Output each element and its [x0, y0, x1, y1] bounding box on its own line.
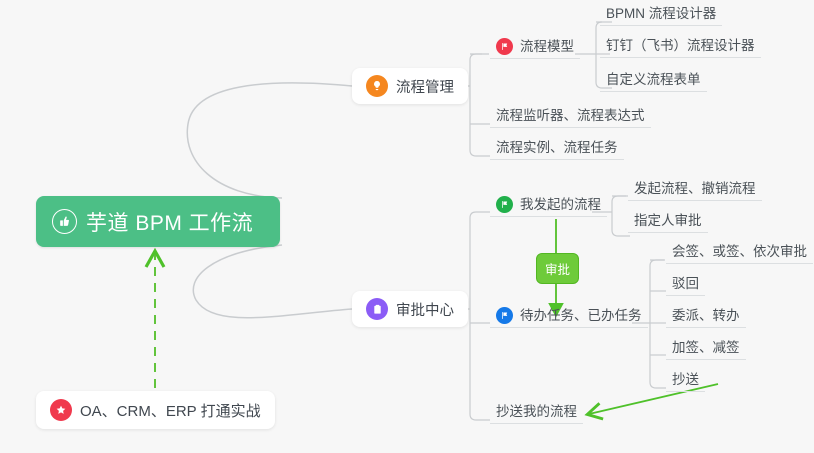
flag-icon: [496, 38, 513, 55]
leaf-label: 流程实例、流程任务: [496, 140, 618, 156]
leaf-process-instance-task[interactable]: 流程实例、流程任务: [490, 140, 624, 160]
flag-icon: [496, 196, 513, 213]
wire-root-to-approval-center: [193, 245, 352, 318]
leaf-assigned-approver[interactable]: 指定人审批: [628, 213, 708, 233]
leaf-label: 加签、减签: [672, 340, 740, 356]
leaf-label: 抄送我的流程: [496, 404, 577, 420]
leaf-label: 自定义流程表单: [606, 72, 701, 88]
wire-todo-spine: [650, 260, 666, 388]
callout-approval[interactable]: 审批: [536, 253, 579, 284]
leaf-dingtalk-feishu-designer[interactable]: 钉钉（飞书）流程设计器: [600, 38, 761, 58]
branch-node-approval-center[interactable]: 审批中心: [352, 291, 468, 327]
leaf-todo-done-tasks[interactable]: 待办任务、已办任务: [490, 307, 648, 328]
star-icon: [50, 399, 72, 421]
callout-label: 审批: [545, 263, 570, 277]
floating-label-integration: OA、CRM、ERP 打通实战: [80, 400, 261, 421]
leaf-label: 指定人审批: [634, 213, 702, 229]
flag-icon: [496, 307, 513, 324]
leaf-custom-process-form[interactable]: 自定义流程表单: [600, 72, 707, 92]
thumbs-up-icon: [52, 209, 77, 234]
leaf-add-remove-sign[interactable]: 加签、减签: [666, 340, 746, 360]
leaf-delegate-transfer[interactable]: 委派、转办: [666, 308, 746, 328]
leaf-cc-my-processes[interactable]: 抄送我的流程: [490, 404, 583, 424]
leaf-label: 会签、或签、依次审批: [672, 244, 807, 260]
leaf-start-cancel-process[interactable]: 发起流程、撤销流程: [628, 181, 762, 201]
leaf-cc[interactable]: 抄送: [666, 372, 705, 392]
leaf-label: 流程监听器、流程表达式: [496, 108, 645, 124]
branch-label-process-management: 流程管理: [396, 76, 454, 97]
root-label: 芋道 BPM 工作流: [86, 207, 253, 237]
leaf-countersign-or-sequential[interactable]: 会签、或签、依次审批: [666, 244, 813, 264]
leaf-process-model[interactable]: 流程模型: [490, 38, 580, 59]
leaf-label: 抄送: [672, 372, 699, 388]
leaf-process-listener-expression[interactable]: 流程监听器、流程表达式: [490, 108, 651, 128]
mindmap-canvas: 芋道 BPM 工作流 流程管理 审批中心 流程模型 流程监听器、流程表达式: [0, 0, 814, 453]
leaf-label: 委派、转办: [672, 308, 740, 324]
wire-pm-spine: [470, 54, 490, 156]
clipboard-icon: [366, 298, 388, 320]
lightbulb-icon: [366, 75, 388, 97]
leaf-my-initiated-processes[interactable]: 我发起的流程: [490, 196, 607, 217]
branch-label-approval-center: 审批中心: [396, 299, 454, 320]
leaf-reject[interactable]: 驳回: [666, 276, 705, 296]
wire-root-to-process-management: [187, 83, 352, 198]
leaf-label: 发起流程、撤销流程: [634, 181, 756, 197]
wire-ac-spine: [470, 212, 490, 420]
branch-node-process-management[interactable]: 流程管理: [352, 68, 468, 104]
leaf-label: 我发起的流程: [520, 197, 601, 213]
root-node[interactable]: 芋道 BPM 工作流: [36, 196, 280, 247]
floating-node-integration[interactable]: OA、CRM、ERP 打通实战: [36, 391, 275, 429]
leaf-label: 流程模型: [520, 39, 574, 55]
leaf-label: 驳回: [672, 276, 699, 292]
leaf-label: 钉钉（飞书）流程设计器: [606, 38, 755, 54]
leaf-bpmn-designer[interactable]: BPMN 流程设计器: [600, 6, 722, 26]
leaf-label: BPMN 流程设计器: [606, 6, 716, 22]
leaf-label: 待办任务、已办任务: [520, 308, 642, 324]
